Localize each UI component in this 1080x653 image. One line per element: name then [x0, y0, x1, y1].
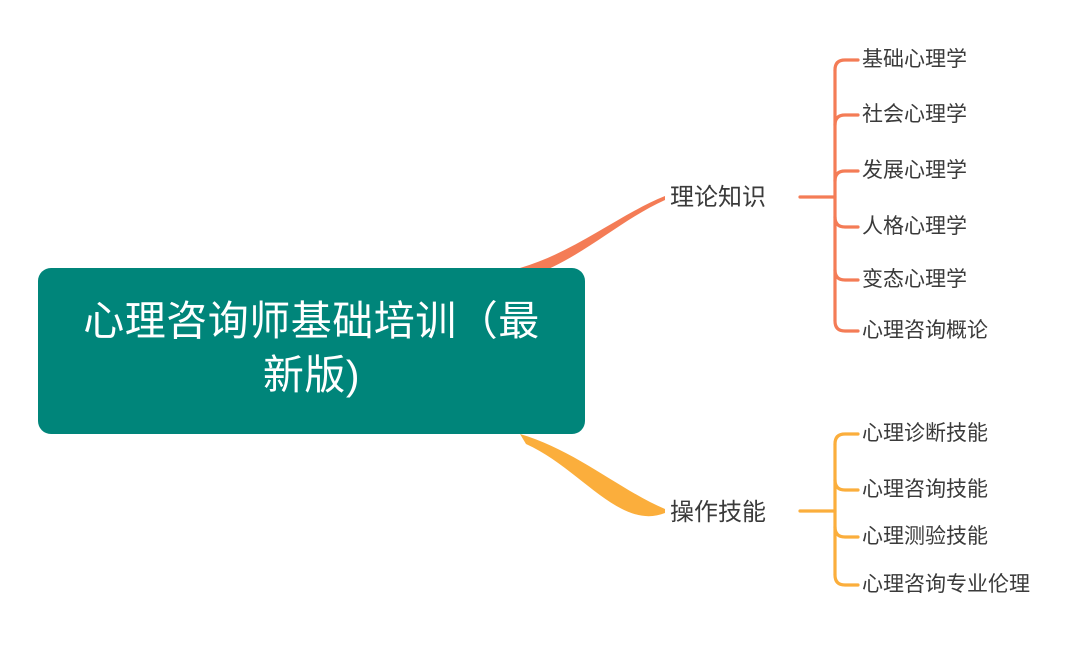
leaf-skills-3[interactable]: 心理测验技能 — [862, 526, 988, 547]
elbow-skills-3 — [835, 527, 858, 537]
leaf-theory-6[interactable]: 心理咨询概论 — [862, 320, 988, 341]
branch-label-skills[interactable]: 操作技能 — [670, 501, 766, 525]
leaf-skills-4[interactable]: 心理咨询专业伦理 — [862, 574, 1030, 595]
elbow-theory-2 — [835, 115, 858, 125]
mindmap-canvas: 心理咨询师基础培训（最新版) 理论知识 操作技能 基础心理学 社会心理学 发展心… — [0, 0, 1080, 653]
leaf-theory-4[interactable]: 人格心理学 — [862, 216, 967, 237]
leaf-theory-1[interactable]: 基础心理学 — [862, 49, 967, 70]
curve-root-to-skills — [520, 434, 665, 516]
elbow-theory-3 — [835, 171, 858, 181]
leaf-theory-3[interactable]: 发展心理学 — [862, 160, 967, 181]
leaf-theory-2[interactable]: 社会心理学 — [862, 104, 967, 125]
elbow-skills-4 — [835, 575, 858, 585]
curve-root-to-theory — [520, 196, 665, 278]
root-node[interactable]: 心理咨询师基础培训（最新版) — [38, 268, 585, 434]
elbow-skills-2 — [835, 480, 858, 490]
leaf-skills-2[interactable]: 心理咨询技能 — [862, 479, 988, 500]
elbow-skills-1 — [835, 434, 858, 444]
leaf-skills-1[interactable]: 心理诊断技能 — [862, 423, 988, 444]
root-node-label: 心理咨询师基础培训（最新版) — [64, 294, 559, 402]
elbow-theory-4 — [835, 217, 858, 227]
elbow-theory-1 — [835, 60, 858, 70]
elbow-theory-5 — [835, 270, 858, 280]
elbow-theory-6 — [835, 321, 858, 331]
leaf-theory-5[interactable]: 变态心理学 — [862, 269, 967, 290]
branch-label-theory[interactable]: 理论知识 — [670, 186, 766, 210]
